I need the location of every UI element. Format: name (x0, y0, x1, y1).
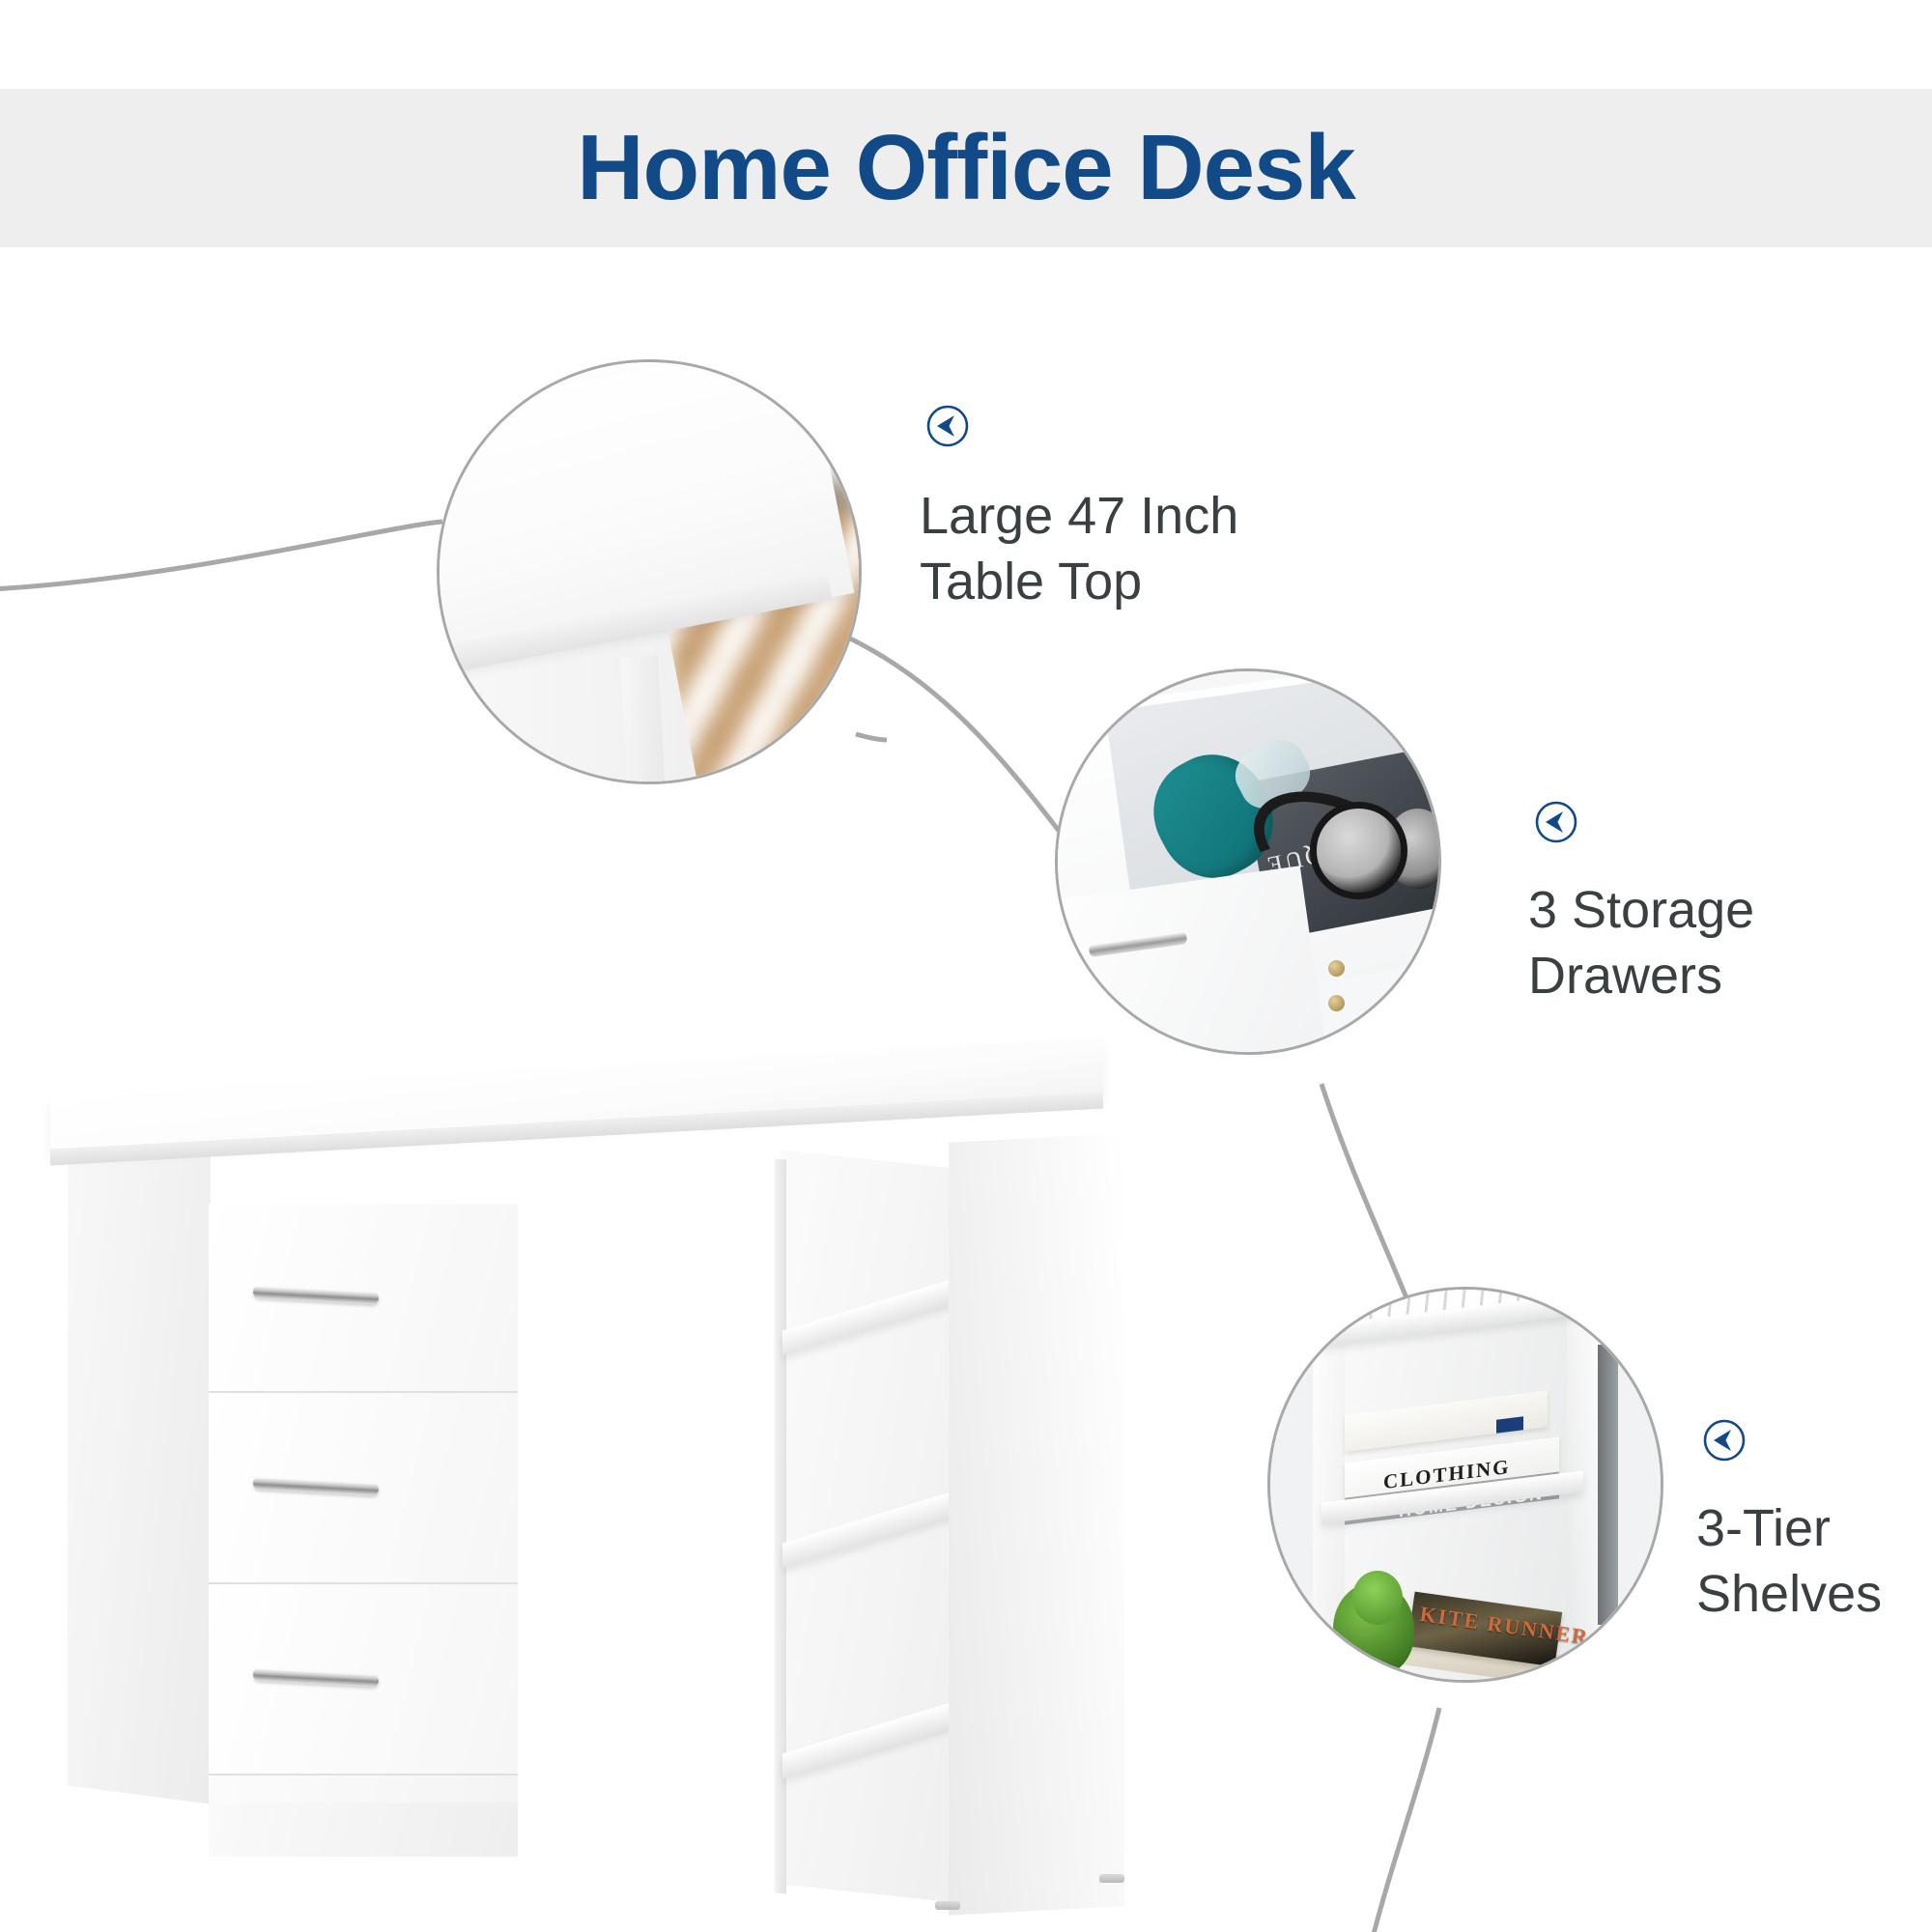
desk-drawer (209, 1586, 518, 1776)
desk-drawer-handle (253, 1668, 379, 1688)
callout-label-line2: Shelves (1696, 1561, 1882, 1627)
callout-label-line1: 3-Tier (1696, 1499, 1831, 1557)
desk-pedestal-side-panel (68, 1119, 211, 1804)
inset-photo-table-top (437, 359, 862, 784)
circled-left-arrow-icon (1702, 1418, 1747, 1463)
desk-leg (620, 655, 666, 781)
circled-left-arrow-icon (925, 404, 970, 448)
inset-photo-storage-drawers: ANTIQUE (1055, 668, 1441, 1055)
desk-shelf-front-lip (775, 1158, 786, 1893)
desk-shelf-side-panel (949, 1133, 1124, 1916)
desk-drawer-handle (253, 1477, 379, 1496)
callout-label-table-top: Large 47 Inch Table Top (920, 483, 1238, 614)
inset-photo-tier-shelves: HOME DESIGN CLOTHING KITE RUNNER (1267, 1287, 1663, 1683)
brass-screw (1328, 995, 1345, 1011)
desk-pedestal-plinth (209, 1803, 518, 1857)
callout-label-line2: Drawers (1528, 943, 1754, 1009)
desk-foot (1099, 1874, 1124, 1883)
callout-label-line1: Large 47 Inch (920, 487, 1238, 545)
shelf-side-gap (1598, 1345, 1617, 1626)
headphones-ear-cup-near (1317, 809, 1401, 893)
callout-label-line2: Table Top (920, 549, 1238, 614)
desk-drawer (209, 1204, 518, 1393)
desk-table-top (50, 1037, 1103, 1154)
callout-label-tier-shelves: 3-Tier Shelves (1696, 1495, 1882, 1627)
callout-label-storage-drawers: 3 Storage Drawers (1528, 877, 1754, 1009)
product-photo-desk (29, 1024, 1150, 1835)
circled-left-arrow-icon (1534, 800, 1578, 844)
desk-drawer (209, 1395, 518, 1584)
desk-drawer-column (209, 1204, 518, 1804)
callout-label-line1: 3 Storage (1528, 881, 1754, 939)
desk-foot (935, 1901, 960, 1910)
desk-drawer-handle (253, 1286, 379, 1305)
